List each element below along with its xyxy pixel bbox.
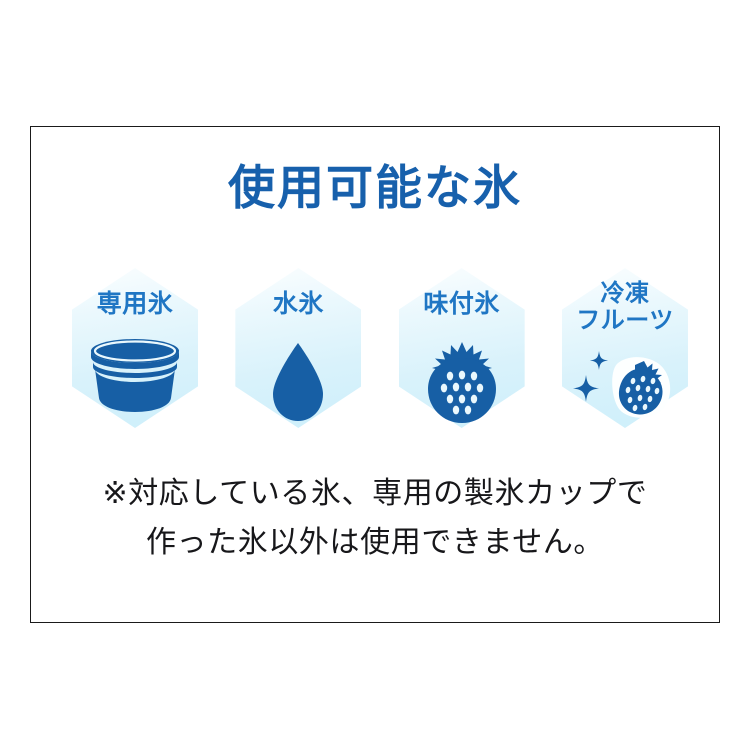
disclaimer-note: ※対応している氷、専用の製氷カップで 作った氷以外は使用できません。 bbox=[0, 470, 750, 567]
strawberry-icon bbox=[407, 342, 517, 424]
badge-label: 冷凍 フルーツ bbox=[550, 280, 700, 334]
page-title: 使用可能な氷 bbox=[0, 162, 750, 216]
badge-dedicated-ice[interactable]: 専用氷 bbox=[60, 268, 210, 433]
ice-cup-icon bbox=[80, 334, 190, 416]
badge-label: 水氷 bbox=[223, 290, 373, 319]
sparkle-shapes bbox=[573, 351, 608, 402]
badge-flavored-ice[interactable]: 味付氷 bbox=[387, 268, 537, 433]
badge-water-ice[interactable]: 水氷 bbox=[223, 268, 373, 433]
frozen-strawberry-sparkle-icon bbox=[570, 342, 680, 424]
badge-frozen-fruit[interactable]: 冷凍 フルーツ bbox=[550, 268, 700, 433]
usable-ice-badge-list: 専用氷 水氷 bbox=[60, 268, 700, 433]
badge-label: 専用氷 bbox=[60, 290, 210, 319]
water-drop-icon bbox=[243, 342, 353, 424]
badge-label: 味付氷 bbox=[387, 290, 537, 319]
product-feature-card: 使用可能な氷 専用氷 bbox=[0, 0, 750, 750]
